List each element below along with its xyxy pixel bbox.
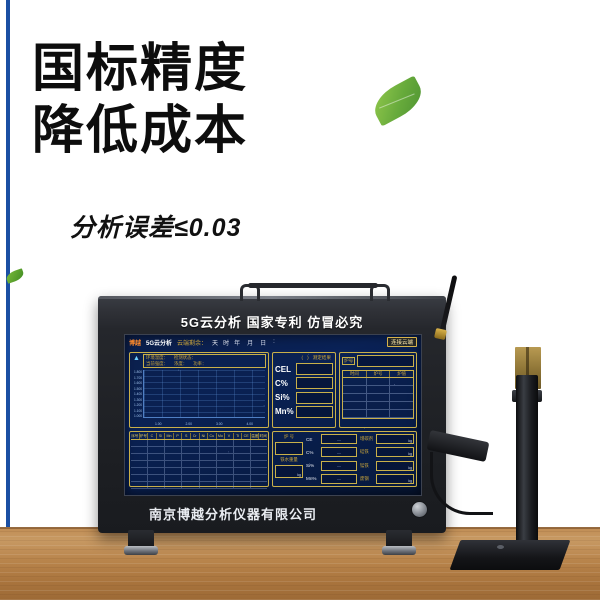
cell bbox=[234, 454, 251, 460]
cell bbox=[367, 410, 391, 417]
base-screw bbox=[497, 545, 504, 549]
furnace-number-label: 炉号 bbox=[342, 357, 355, 365]
cell bbox=[148, 447, 165, 453]
analyzer-device: 5G云分析 国家专利 仿冒必究 博越 5G云分析 云端剩余： 天 时 年 月 日… bbox=[98, 296, 446, 533]
target-row: Mn% — bbox=[306, 474, 357, 484]
device-screen[interactable]: 博越 5G云分析 云端剩余： 天 时 年 月 日 : 连接云端 ▲ 环境温度： … bbox=[124, 334, 422, 496]
sample-slot bbox=[526, 347, 529, 377]
target-name: CE bbox=[306, 437, 319, 442]
target-name: Mn% bbox=[306, 476, 319, 481]
cell bbox=[390, 378, 413, 385]
target-values-group: CE — C% — Si% — Mn% — bbox=[306, 434, 357, 484]
result-value-field[interactable] bbox=[296, 377, 333, 389]
cell bbox=[200, 461, 217, 467]
records-col: V bbox=[225, 433, 234, 439]
y-tick: 1.400 bbox=[134, 392, 142, 396]
records-col: Ti bbox=[234, 433, 243, 439]
concentration-label: 浓度： bbox=[174, 361, 187, 367]
titlebar-brand: 博越 bbox=[129, 338, 141, 347]
cell bbox=[148, 461, 165, 467]
cell bbox=[367, 386, 391, 393]
date-month-label: 月 bbox=[247, 338, 255, 347]
cell bbox=[200, 454, 217, 460]
additive-name: 废钢 bbox=[360, 476, 374, 482]
cell bbox=[251, 447, 267, 453]
records-col: Mn bbox=[165, 433, 174, 439]
left-accent-bar bbox=[6, 0, 10, 538]
time-separator: : bbox=[273, 339, 277, 345]
additive-row: 锰铁 kg bbox=[360, 461, 414, 471]
chart-y-axis: 1.800 1.700 1.600 1.500 1.400 1.300 1.20… bbox=[130, 370, 143, 418]
y-tick: 1.700 bbox=[134, 376, 142, 380]
target-input[interactable]: — bbox=[321, 474, 357, 484]
y-tick: 1.800 bbox=[134, 370, 142, 374]
cell bbox=[165, 482, 182, 488]
company-name: 南京博越分析仪器有限公司 bbox=[98, 504, 368, 523]
date-day-label: 日 bbox=[260, 338, 268, 347]
spectrum-logo-icon: ▲ bbox=[132, 355, 141, 364]
records-col: S bbox=[182, 433, 191, 439]
power-button[interactable] bbox=[411, 501, 428, 518]
cell bbox=[200, 475, 217, 481]
cell bbox=[182, 440, 199, 446]
x-tick: 4.00 bbox=[246, 422, 253, 426]
cell bbox=[217, 482, 234, 488]
page-title: 国标精度 降低成本 bbox=[32, 38, 362, 162]
cell bbox=[234, 482, 251, 488]
cell bbox=[251, 482, 267, 488]
stand-column bbox=[516, 375, 538, 550]
chart-status-header: 环境温度： 检测状态： 当前强度： 浓度： 功率： bbox=[143, 354, 266, 368]
cell bbox=[200, 440, 217, 446]
cell bbox=[390, 394, 413, 401]
table-row[interactable] bbox=[343, 394, 413, 402]
records-col: 炉号 bbox=[140, 433, 149, 439]
headline-line-1: 国标精度 bbox=[32, 40, 248, 98]
additive-value[interactable]: kg bbox=[376, 474, 414, 484]
cell bbox=[182, 468, 199, 474]
cell bbox=[390, 402, 413, 409]
cell bbox=[217, 440, 234, 446]
cell bbox=[165, 461, 182, 467]
y-tick: 1.600 bbox=[134, 381, 142, 385]
cell bbox=[131, 461, 148, 467]
cell bbox=[343, 386, 367, 393]
cell bbox=[182, 447, 199, 453]
target-row: CE — bbox=[306, 434, 357, 444]
cell bbox=[131, 447, 148, 453]
spectrum-chart-panel[interactable]: ▲ 环境温度： 检测状态： 当前强度： 浓度： 功率： 1.800 1.700 bbox=[129, 352, 269, 428]
records-col: Ni bbox=[200, 433, 209, 439]
table-row[interactable] bbox=[131, 447, 267, 454]
cell bbox=[182, 461, 199, 467]
target-input[interactable]: — bbox=[321, 461, 357, 471]
cell bbox=[367, 378, 391, 385]
records-col: C bbox=[148, 433, 157, 439]
table-row[interactable] bbox=[131, 468, 267, 475]
cell bbox=[367, 402, 391, 409]
chart-x-axis: 1.00 2.00 3.00 4.00 bbox=[143, 422, 265, 426]
cell bbox=[148, 468, 165, 474]
cell bbox=[251, 454, 267, 460]
stand-base bbox=[450, 540, 571, 570]
cell bbox=[148, 475, 165, 481]
additive-amounts-group: 增碳剂 kg 硅铁 kg 锰铁 kg 废钢 kg bbox=[360, 434, 414, 484]
y-tick: 1.200 bbox=[134, 403, 142, 407]
table-row[interactable] bbox=[343, 378, 413, 386]
y-tick: 1.000 bbox=[134, 414, 142, 418]
target-row: C% — bbox=[306, 447, 357, 457]
result-value-field[interactable] bbox=[296, 392, 333, 404]
result-row: CEL bbox=[275, 363, 333, 375]
records-col: P bbox=[174, 433, 183, 439]
cell bbox=[131, 468, 148, 474]
additive-unit: kg bbox=[408, 439, 412, 443]
poster-canvas: 国标精度 降低成本 分析误差≤0.03 5G云分析 国家专利 仿冒必究 博越 5… bbox=[0, 0, 600, 600]
cell bbox=[182, 454, 199, 460]
cell bbox=[234, 447, 251, 453]
furnace-no-input[interactable] bbox=[275, 442, 303, 455]
power-label: 功率： bbox=[193, 361, 206, 367]
result-row: Mn% bbox=[275, 406, 333, 418]
cell bbox=[182, 475, 199, 481]
headline-line-2: 降低成本 bbox=[32, 100, 362, 162]
records-col: 序号 bbox=[131, 433, 140, 439]
additive-name: 增碳剂 bbox=[360, 436, 374, 442]
y-tick: 1.100 bbox=[134, 409, 142, 413]
additive-name: 硅铁 bbox=[360, 449, 374, 455]
cell bbox=[165, 454, 182, 460]
results-bracket-right: ) bbox=[307, 355, 309, 361]
result-element-name: Si% bbox=[275, 393, 294, 402]
table-row[interactable] bbox=[131, 482, 267, 489]
leaf-icon bbox=[368, 76, 428, 127]
iron-weight-label: 铁水重量 bbox=[275, 457, 303, 463]
device-foot-left bbox=[128, 530, 154, 548]
cell bbox=[343, 402, 367, 409]
additive-unit: kg bbox=[408, 466, 412, 470]
target-input[interactable]: — bbox=[321, 447, 357, 457]
x-tick: 2.00 bbox=[185, 422, 192, 426]
table-row[interactable] bbox=[131, 440, 267, 447]
measurement-results-panel[interactable]: ( ) 测定结果 CEL C% Si% Mn% bbox=[272, 352, 336, 428]
additive-name: 锰铁 bbox=[360, 463, 374, 469]
weight-unit: kg bbox=[297, 473, 301, 477]
device-top-highlight bbox=[98, 296, 446, 299]
additive-row: 增碳剂 kg bbox=[360, 434, 414, 444]
cell bbox=[390, 410, 413, 417]
target-name: Si% bbox=[306, 463, 319, 468]
cell bbox=[217, 447, 234, 453]
device-banner: 5G云分析 国家专利 仿冒必究 bbox=[98, 312, 446, 331]
cell bbox=[165, 468, 182, 474]
furnace-input-row: 炉号 bbox=[342, 355, 414, 367]
cell bbox=[217, 468, 234, 474]
result-row: C% bbox=[275, 377, 333, 389]
y-tick: 1.300 bbox=[134, 398, 142, 402]
screen-titlebar: 博越 5G云分析 云端剩余： 天 时 年 月 日 : 连接云端 bbox=[125, 335, 421, 349]
records-col: Mo bbox=[217, 433, 226, 439]
cell bbox=[165, 447, 182, 453]
cell bbox=[343, 394, 367, 401]
additive-unit: kg bbox=[408, 479, 412, 483]
device-foot-right bbox=[386, 530, 412, 548]
cell bbox=[251, 461, 267, 467]
history-col-furnace: 炉号 bbox=[367, 371, 391, 377]
cell bbox=[148, 454, 165, 460]
cell bbox=[343, 410, 367, 417]
cell bbox=[390, 386, 413, 393]
history-col-time: 时间 bbox=[343, 371, 367, 377]
target-input[interactable]: — bbox=[321, 434, 357, 444]
cell bbox=[251, 440, 267, 446]
cell bbox=[182, 482, 199, 488]
cloud-unit-day: 天 bbox=[212, 338, 218, 347]
dosing-controls-panel[interactable]: 炉 号 铁水重量 kg CE — C% — Si% bbox=[272, 431, 417, 487]
furnace-no-label: 炉 号 bbox=[275, 434, 303, 440]
chart-plot-area bbox=[143, 370, 265, 418]
carry-handle-bar bbox=[248, 283, 378, 288]
history-table: 时间 炉号 炉值 bbox=[342, 370, 414, 419]
result-element-name: C% bbox=[275, 379, 294, 388]
records-header-row: 序号 炉号 C Si Mn P S Cr Ni Cu Mo V Ti CE 温度… bbox=[131, 433, 267, 440]
table-row[interactable] bbox=[131, 475, 267, 482]
cloud-connect-button[interactable]: 连接云端 bbox=[387, 337, 417, 347]
result-element-name: CEL bbox=[275, 365, 294, 374]
cell bbox=[234, 461, 251, 467]
results-bracket-left: ( bbox=[302, 355, 304, 361]
cell bbox=[251, 468, 267, 474]
furnace-weight-group: 炉 号 铁水重量 kg bbox=[275, 434, 303, 484]
cell bbox=[131, 475, 148, 481]
result-value-field[interactable] bbox=[296, 406, 333, 418]
x-tick: 1.00 bbox=[155, 422, 162, 426]
cell bbox=[200, 447, 217, 453]
cell bbox=[217, 475, 234, 481]
cell bbox=[200, 482, 217, 488]
date-year-label: 年 bbox=[234, 338, 242, 347]
target-name: C% bbox=[306, 450, 319, 455]
cell bbox=[131, 454, 148, 460]
results-header-label: 测定结果 bbox=[313, 355, 331, 361]
records-col: Si bbox=[157, 433, 166, 439]
cell bbox=[148, 482, 165, 488]
furnace-number-input[interactable] bbox=[357, 355, 414, 367]
result-element-name: Mn% bbox=[275, 407, 294, 416]
result-value-field[interactable] bbox=[296, 363, 333, 375]
titlebar-app-name: 5G云分析 bbox=[146, 338, 172, 347]
additive-value[interactable]: kg bbox=[376, 461, 414, 471]
additive-row: 硅铁 kg bbox=[360, 447, 414, 457]
records-col: CE bbox=[242, 433, 251, 439]
cell bbox=[234, 468, 251, 474]
current-intensity-label: 当前强度： bbox=[146, 361, 168, 367]
cell bbox=[367, 394, 391, 401]
iron-weight-input[interactable]: kg bbox=[275, 465, 303, 478]
cell bbox=[131, 482, 148, 488]
cell bbox=[165, 475, 182, 481]
table-row[interactable] bbox=[131, 461, 267, 468]
history-header-row: 时间 炉号 炉值 bbox=[343, 371, 413, 378]
cell bbox=[131, 440, 148, 446]
table-row[interactable] bbox=[343, 402, 413, 410]
additive-value[interactable]: kg bbox=[376, 434, 414, 444]
cell bbox=[217, 461, 234, 467]
table-row[interactable] bbox=[343, 410, 413, 418]
target-row: Si% — bbox=[306, 461, 357, 471]
cell bbox=[251, 475, 267, 481]
additive-value[interactable]: kg bbox=[376, 447, 414, 457]
results-header: ( ) 测定结果 bbox=[275, 355, 333, 361]
records-col: 温度 bbox=[251, 433, 260, 439]
subtitle: 分析误差≤0.03 bbox=[70, 208, 241, 244]
history-col-value: 炉值 bbox=[390, 371, 413, 377]
cell bbox=[343, 378, 367, 385]
table-row[interactable] bbox=[343, 386, 413, 394]
cell bbox=[148, 440, 165, 446]
y-tick: 1.500 bbox=[134, 387, 142, 391]
cell bbox=[234, 475, 251, 481]
result-row: Si% bbox=[275, 392, 333, 404]
cloud-unit-hour: 时 bbox=[223, 338, 229, 347]
x-tick: 3.00 bbox=[216, 422, 223, 426]
cell bbox=[200, 468, 217, 474]
cell bbox=[217, 454, 234, 460]
sample-records-table[interactable]: 序号 炉号 C Si Mn P S Cr Ni Cu Mo V Ti CE 温度… bbox=[129, 431, 269, 487]
cell bbox=[234, 440, 251, 446]
records-col: Cr bbox=[191, 433, 200, 439]
history-panel[interactable]: 炉号 时间 炉号 炉值 bbox=[339, 352, 417, 428]
cloud-remaining-label: 云端剩余： bbox=[177, 338, 207, 347]
records-col: Cu bbox=[208, 433, 217, 439]
table-row[interactable] bbox=[131, 454, 267, 461]
records-col: 时间 bbox=[259, 433, 267, 439]
additive-row: 废钢 kg bbox=[360, 474, 414, 484]
cell bbox=[165, 440, 182, 446]
additive-unit: kg bbox=[408, 452, 412, 456]
